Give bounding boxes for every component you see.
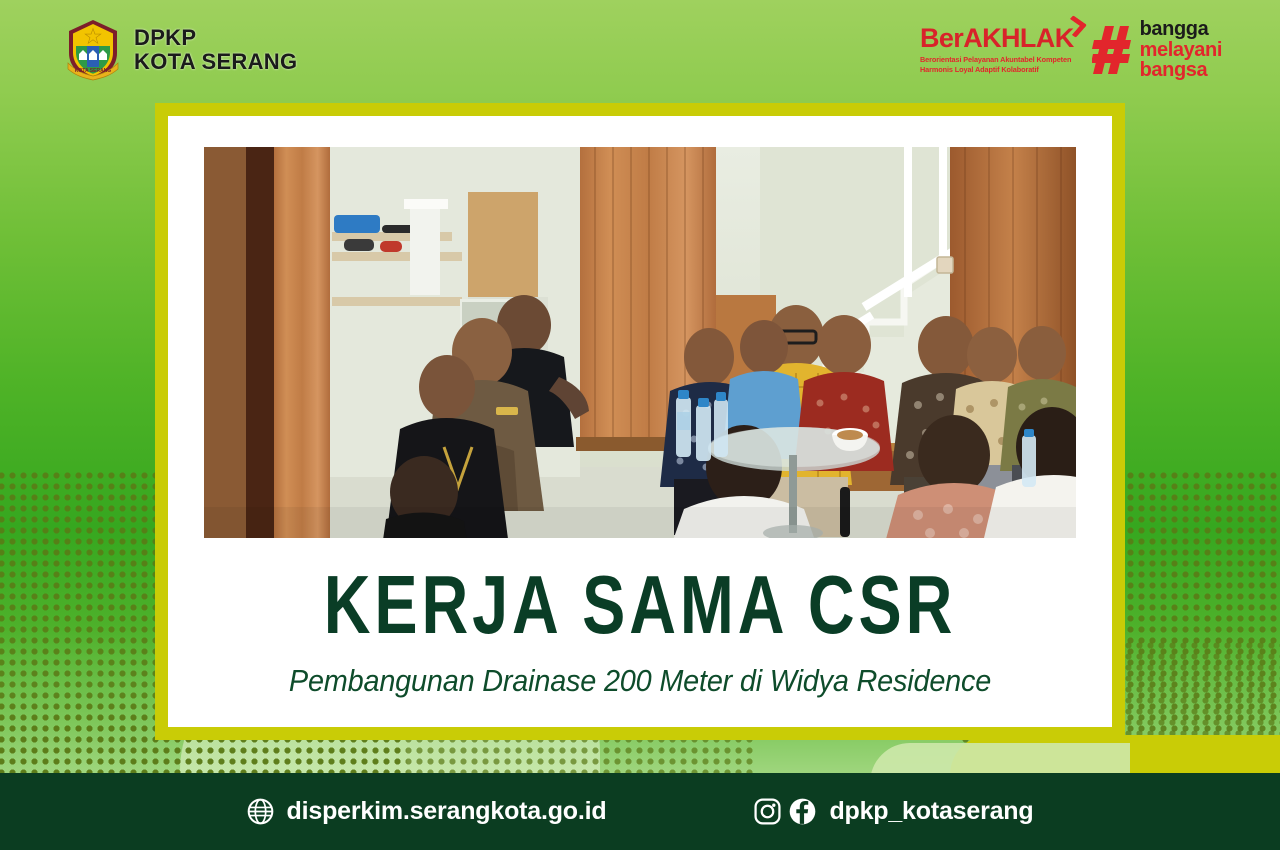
instagram-icon[interactable] xyxy=(754,798,781,825)
berakhlak-values: Berorientasi Pelayanan Akuntabel Kompete… xyxy=(920,55,1074,75)
bangga-line-3: bangsa xyxy=(1140,60,1222,80)
content-card: KERJA SAMA CSR Pembangunan Drainase 200 … xyxy=(168,116,1112,727)
bangga-melayani-bangsa-logo: bangga melayani bangsa xyxy=(1092,19,1222,80)
berakhlak-values-line-1: Berorientasi Pelayanan Akuntabel Kompete… xyxy=(920,55,1074,65)
social-icons xyxy=(754,798,816,825)
page-subtitle: Pembangunan Drainase 200 Meter di Widya … xyxy=(201,663,1079,699)
social-item[interactable]: dpkp_kotaserang xyxy=(754,797,1033,826)
hashtag-icon xyxy=(1092,24,1132,76)
social-handle: dpkp_kotaserang xyxy=(829,797,1033,826)
facebook-icon[interactable] xyxy=(789,798,816,825)
meeting-photo xyxy=(204,147,1076,538)
poster-header: KOTA SERANG DPKP KOTA SERANG BerAKHLAK B… xyxy=(0,0,1280,100)
organization-name: DPKP KOTA SERANG xyxy=(134,26,297,74)
website-url: disperkim.serangkota.go.id xyxy=(287,797,607,826)
berakhlak-logo: BerAKHLAK Berorientasi Pelayanan Akuntab… xyxy=(920,25,1074,75)
globe-icon xyxy=(247,798,274,825)
berakhlak-wordmark: BerAKHLAK xyxy=(920,25,1074,52)
website-item[interactable]: disperkim.serangkota.go.id xyxy=(247,797,607,826)
content-card-frame: KERJA SAMA CSR Pembangunan Drainase 200 … xyxy=(155,103,1125,740)
poster-footer: disperkim.serangkota.go.id xyxy=(0,773,1280,850)
org-line-1: DPKP xyxy=(134,26,297,50)
campaign-logos: BerAKHLAK Berorientasi Pelayanan Akuntab… xyxy=(920,19,1222,80)
bangga-line-1: bangga xyxy=(1140,19,1222,39)
kota-serang-coat-of-arms-icon: KOTA SERANG xyxy=(66,19,120,81)
svg-text:KOTA SERANG: KOTA SERANG xyxy=(75,68,112,74)
org-line-2: KOTA SERANG xyxy=(134,50,297,74)
poster-canvas: KOTA SERANG DPKP KOTA SERANG BerAKHLAK B… xyxy=(0,0,1280,850)
page-title: KERJA SAMA CSR xyxy=(272,563,1008,646)
berakhlak-values-line-2: Harmonis Loyal Adaptif Kolaboratif xyxy=(920,65,1074,75)
bangga-wordmark: bangga melayani bangsa xyxy=(1140,19,1222,80)
brand-lockup: KOTA SERANG DPKP KOTA SERANG xyxy=(66,19,297,81)
bangga-line-2: melayani xyxy=(1140,40,1222,60)
